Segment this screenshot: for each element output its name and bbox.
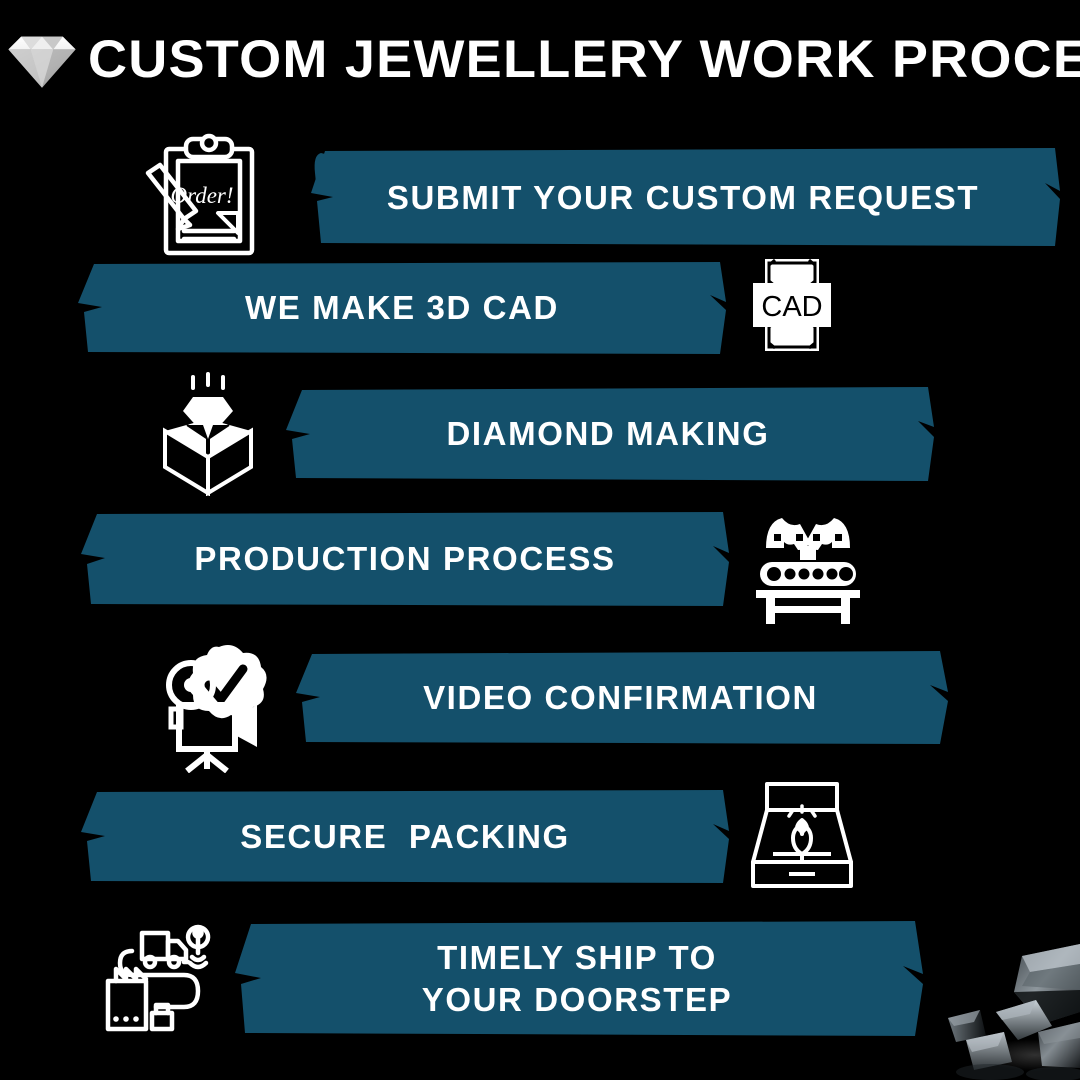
clipboard-order-text: Order! — [170, 183, 233, 208]
banner-shape-6 — [75, 787, 735, 887]
diamond-box-icon — [148, 368, 268, 498]
banner-shape-5 — [288, 648, 953, 748]
video-camera-check-icon — [158, 640, 288, 775]
step-row-2: WE MAKE 3D CAD — [72, 258, 732, 358]
banner-shape-4 — [75, 508, 735, 610]
banner-shape-3 — [278, 383, 938, 485]
cad-printer-icon: CAD — [736, 252, 846, 357]
ring-box-icon — [742, 778, 862, 893]
page-title: CUSTOM JEWELLERY WORK PROCESS — [88, 33, 1080, 86]
banner-shape-2 — [72, 258, 732, 358]
cad-printer-text: CAD — [761, 291, 822, 323]
diamond-icon — [2, 27, 82, 91]
banner-shape-7 — [227, 918, 927, 1040]
clipboard-order-icon: Order! — [133, 128, 283, 263]
step-row-3: DIAMOND MAKING — [278, 383, 938, 485]
step-row-5: VIDEO CONFIRMATION — [288, 648, 953, 748]
step-row-4: PRODUCTION PROCESS — [75, 508, 735, 610]
step-row-1: SUBMIT YOUR CUSTOM REQUEST — [303, 143, 1063, 253]
shipping-route-icon — [95, 912, 225, 1042]
header: CUSTOM JEWELLERY WORK PROCESS — [0, 16, 1080, 102]
step-row-7: TIMELY SHIP TO YOUR DOORSTEP — [227, 918, 927, 1040]
infographic-canvas: CUSTOM JEWELLERY WORK PROCESS SUBMIT YOU… — [0, 0, 1080, 1080]
step-row-6: SECURE PACKING — [75, 787, 735, 887]
conveyor-robot-icon — [745, 503, 870, 628]
banner-shape-1 — [303, 143, 1063, 253]
diamond-cluster-photo — [930, 920, 1080, 1080]
